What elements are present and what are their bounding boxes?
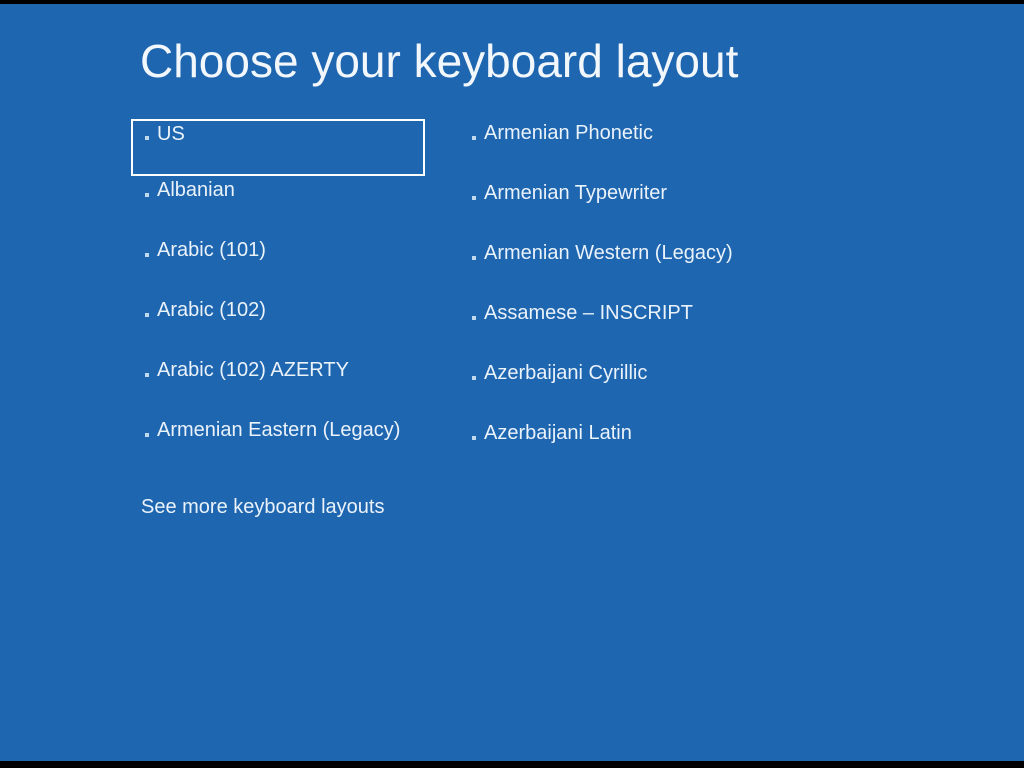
layout-option-label: Armenian Eastern (Legacy): [157, 416, 400, 444]
bullet-icon: [145, 373, 149, 377]
layout-option-albanian[interactable]: Albanian: [133, 176, 433, 236]
bullet-icon: [472, 196, 476, 200]
bullet-icon: [472, 316, 476, 320]
keyboard-layout-list-right: Armenian Phonetic Armenian Typewriter Ar…: [462, 119, 792, 479]
layout-option-arabic-101[interactable]: Arabic (101): [133, 236, 433, 296]
recovery-screen: Choose your keyboard layout US Albanian …: [0, 0, 1024, 768]
letterbox-bar-bottom: [0, 761, 1024, 768]
layout-option-arabic-102[interactable]: Arabic (102): [133, 296, 433, 356]
layout-option-label: Arabic (102) AZERTY: [157, 356, 349, 384]
bullet-icon: [472, 436, 476, 440]
layout-option-arabic-102-azerty[interactable]: Arabic (102) AZERTY: [133, 356, 433, 416]
bullet-icon: [145, 136, 149, 140]
screen-canvas: Choose your keyboard layout US Albanian …: [0, 4, 1024, 761]
layout-option-assamese-inscript[interactable]: Assamese – INSCRIPT: [462, 299, 792, 359]
bullet-icon: [145, 193, 149, 197]
keyboard-layout-list-left: US Albanian Arabic (101) Arabic (102) Ar…: [133, 119, 433, 476]
layout-option-label: Assamese – INSCRIPT: [484, 299, 693, 327]
layout-option-armenian-western-legacy[interactable]: Armenian Western (Legacy): [462, 239, 792, 299]
layout-option-label: US: [157, 121, 185, 147]
bullet-icon: [472, 376, 476, 380]
layout-option-us[interactable]: US: [131, 119, 425, 176]
layout-option-label: Armenian Phonetic: [484, 119, 653, 147]
bullet-icon: [145, 313, 149, 317]
layout-option-label: Arabic (102): [157, 296, 266, 324]
layout-option-armenian-eastern-legacy[interactable]: Armenian Eastern (Legacy): [133, 416, 433, 476]
layout-option-azerbaijani-latin[interactable]: Azerbaijani Latin: [462, 419, 792, 479]
layout-option-azerbaijani-cyrillic[interactable]: Azerbaijani Cyrillic: [462, 359, 792, 419]
bullet-icon: [145, 253, 149, 257]
layout-option-label: Azerbaijani Cyrillic: [484, 359, 647, 387]
layout-option-label: Azerbaijani Latin: [484, 419, 632, 447]
layout-option-label: Albanian: [157, 176, 235, 204]
bullet-icon: [472, 256, 476, 260]
bullet-icon: [145, 433, 149, 437]
layout-option-armenian-typewriter[interactable]: Armenian Typewriter: [462, 179, 792, 239]
see-more-keyboard-layouts-link[interactable]: See more keyboard layouts: [141, 496, 384, 519]
layout-option-armenian-phonetic[interactable]: Armenian Phonetic: [462, 119, 792, 179]
bullet-icon: [472, 136, 476, 140]
layout-option-label: Arabic (101): [157, 236, 266, 264]
layout-option-label: Armenian Western (Legacy): [484, 239, 733, 267]
layout-option-label: Armenian Typewriter: [484, 179, 667, 207]
page-title: Choose your keyboard layout: [140, 36, 738, 87]
